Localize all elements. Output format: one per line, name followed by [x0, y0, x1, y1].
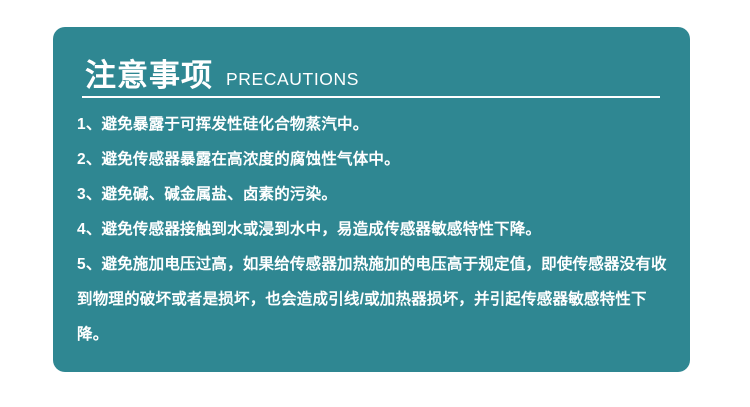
list-item: 4、避免传感器接触到水或浸到水中，易造成传感器敏感特性下降。 [77, 212, 670, 247]
precautions-list: 1、避免暴露于可挥发性硅化合物蒸汽中。 2、避免传感器暴露在高浓度的腐蚀性气体中… [77, 107, 670, 352]
card-header: 注意事项 PRECAUTIONS [85, 49, 662, 93]
list-item: 1、避免暴露于可挥发性硅化合物蒸汽中。 [77, 107, 670, 142]
precautions-card: 注意事项 PRECAUTIONS 1、避免暴露于可挥发性硅化合物蒸汽中。 2、避… [53, 27, 690, 372]
header-divider [82, 96, 660, 98]
page-canvas: 注意事项 PRECAUTIONS 1、避免暴露于可挥发性硅化合物蒸汽中。 2、避… [0, 0, 750, 407]
list-item: 5、避免施加电压过高，如果给传感器加热施加的电压高于规定值，即使传感器没有收到物… [77, 247, 670, 352]
page-title-en: PRECAUTIONS [226, 68, 359, 93]
list-item: 2、避免传感器暴露在高浓度的腐蚀性气体中。 [77, 142, 670, 177]
page-title-cn: 注意事项 [85, 59, 213, 93]
list-item: 3、避免碱、碱金属盐、卤素的污染。 [77, 177, 670, 212]
